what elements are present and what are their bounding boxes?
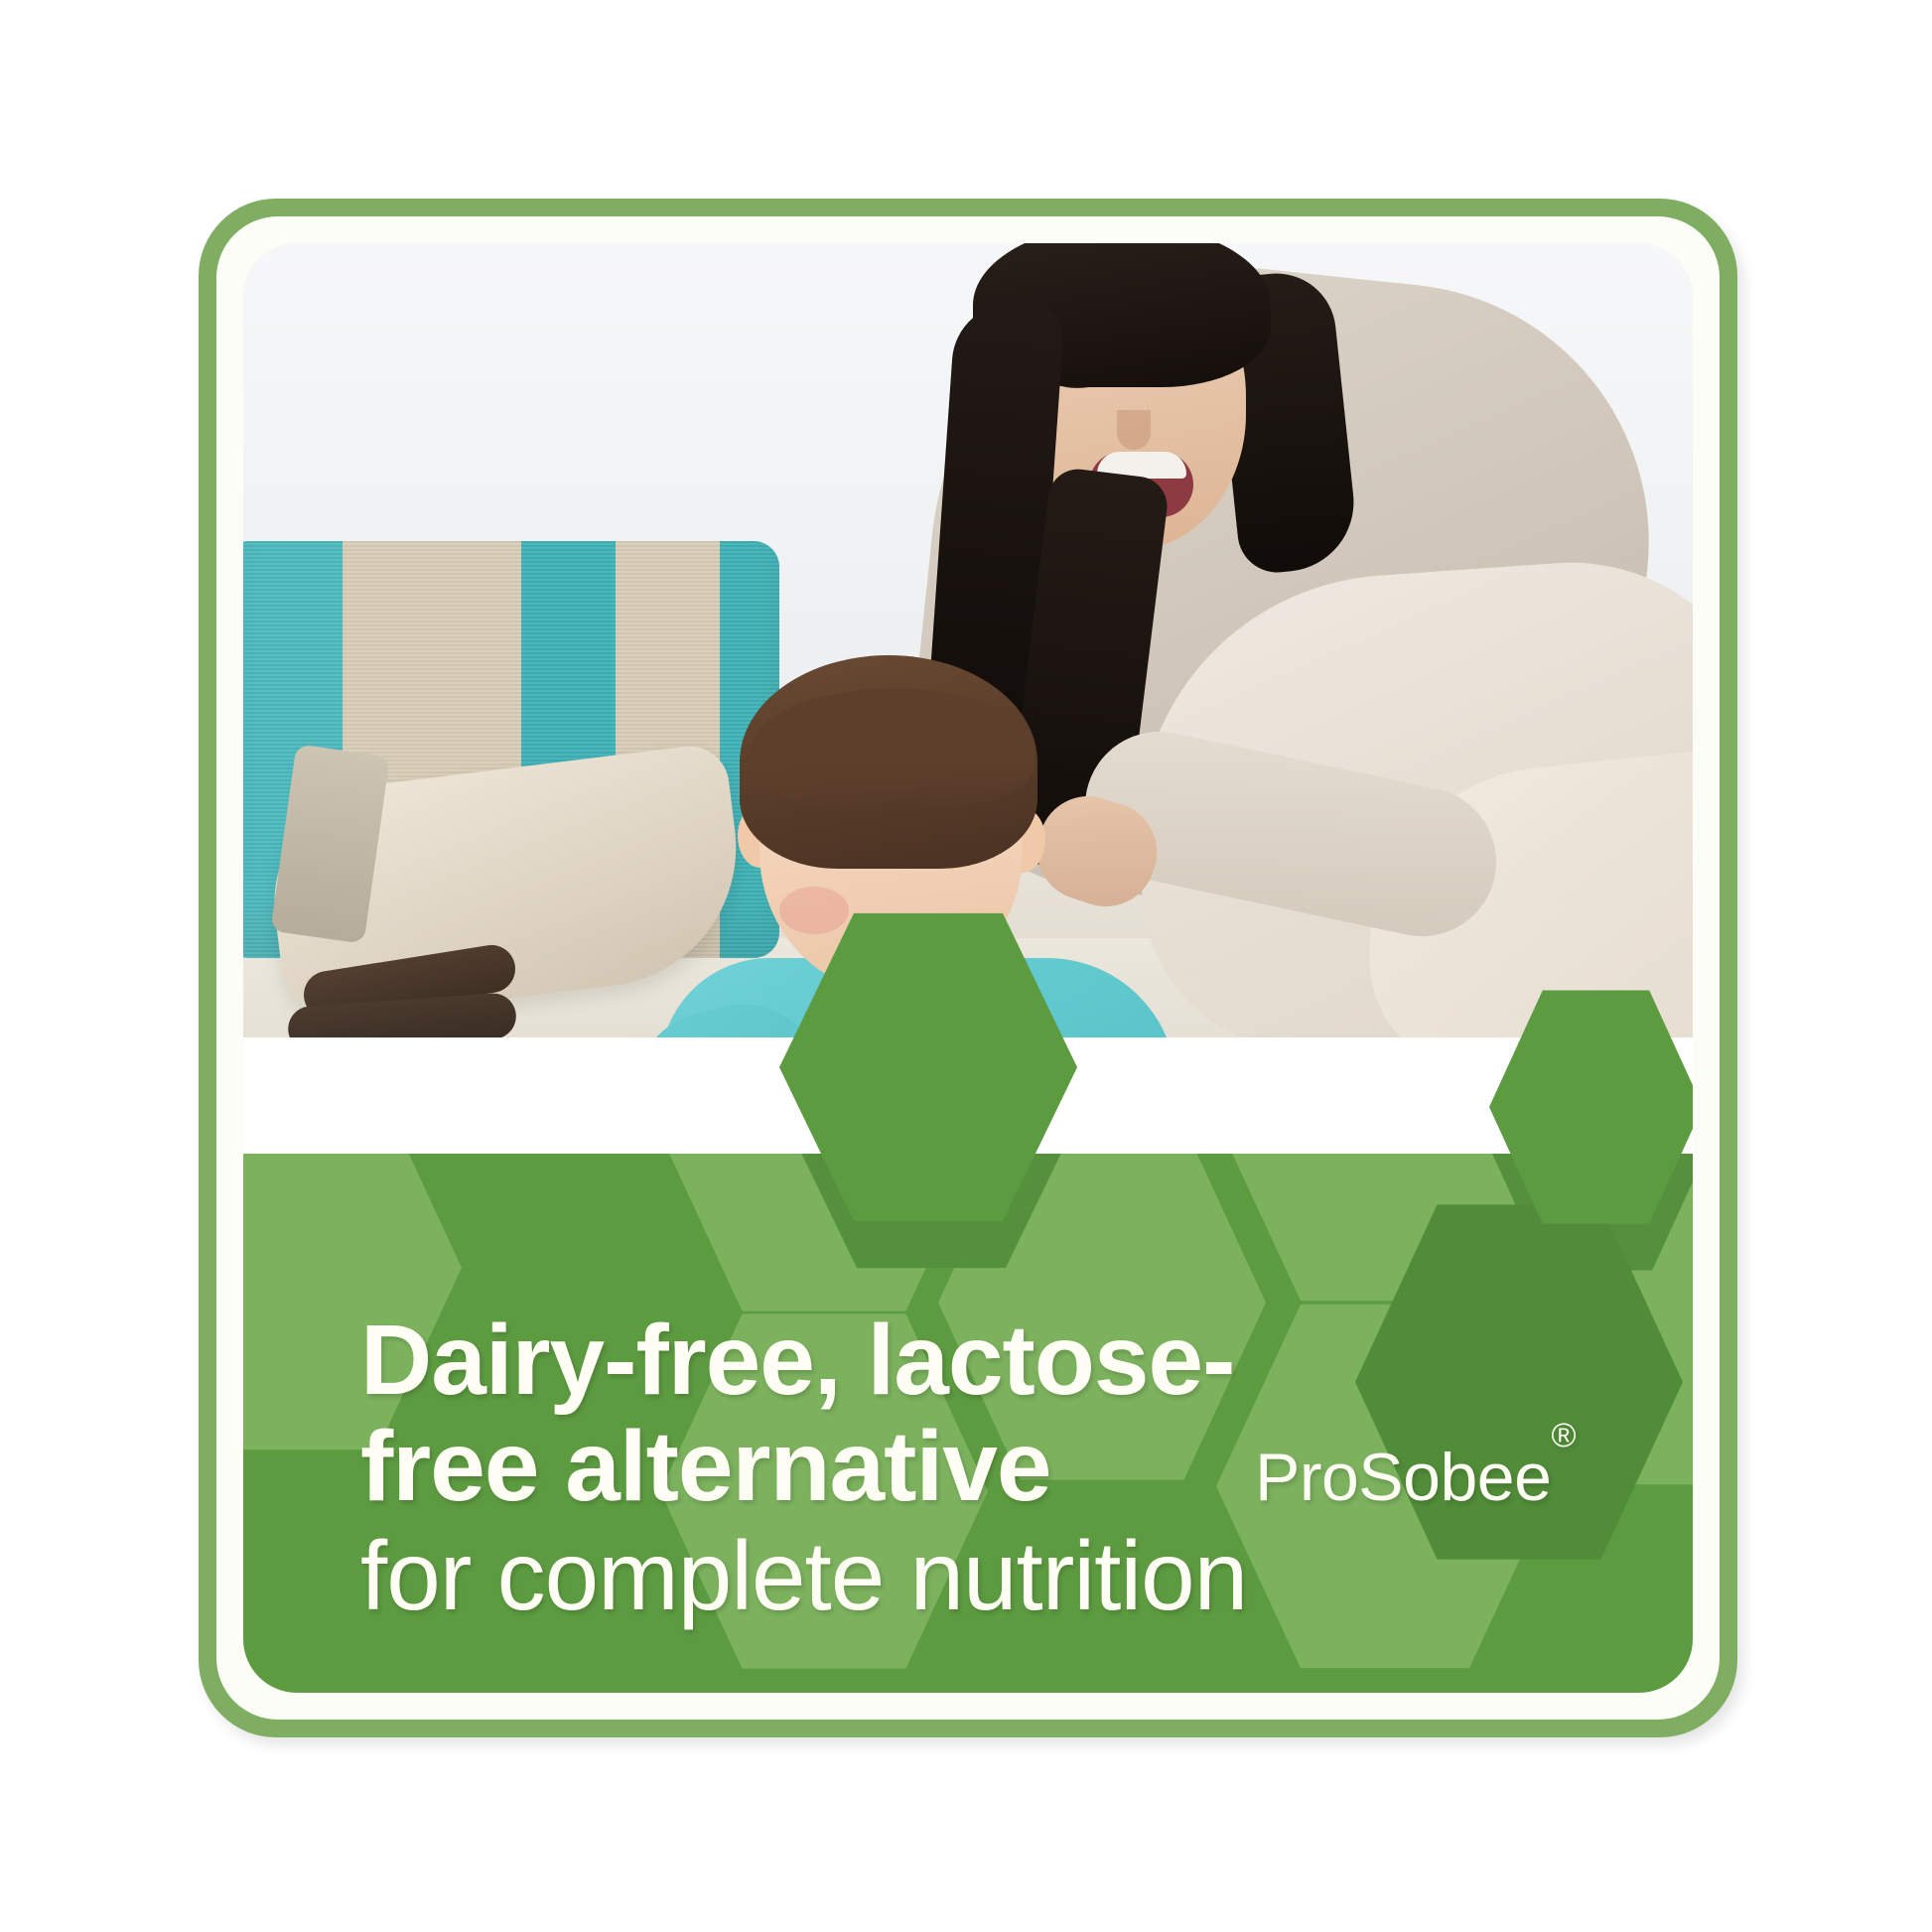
- card-content: Dairy-free, lactose- free alternative fo…: [243, 243, 1693, 1693]
- green-message-panel: Dairy-free, lactose- free alternative fo…: [243, 1154, 1693, 1693]
- product-feature-card: Dairy-free, lactose- free alternative fo…: [0, 0, 1932, 1932]
- frame-white-gap: Dairy-free, lactose- free alternative fo…: [216, 216, 1720, 1720]
- hexagon-overlay-center: [779, 903, 1077, 1231]
- headline-line-3: for complete nutrition: [360, 1520, 1247, 1631]
- brand-name-text: ProSobee: [1255, 1440, 1551, 1515]
- headline-line-1: Dairy-free, lactose-: [360, 1308, 1247, 1414]
- hexagon-overlay-right: [1489, 983, 1693, 1231]
- brand-name: ProSobee®: [1255, 1439, 1576, 1516]
- brand-lockup: ProSobee®: [1255, 1439, 1576, 1516]
- registered-trademark-icon: ®: [1551, 1417, 1576, 1454]
- green-outer-frame: Dairy-free, lactose- free alternative fo…: [199, 199, 1737, 1737]
- headline-block: Dairy-free, lactose- free alternative fo…: [360, 1308, 1247, 1631]
- headline-line-2: free alternative: [360, 1414, 1247, 1520]
